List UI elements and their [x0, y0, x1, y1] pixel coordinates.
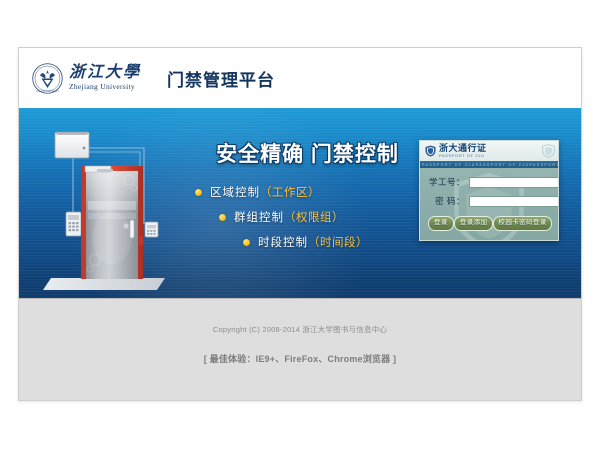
password-row: 密 码： — [428, 195, 550, 207]
student-id-input[interactable] — [469, 177, 559, 188]
feature-sublabel: （工作区） — [260, 184, 320, 200]
site-footer: Copyright (C) 2008-2014 浙江大学图书与信息中心 [ 最佳… — [19, 298, 581, 401]
login-panel: 浙大通行证 PASSPORT OF ZJU PASSPORT OF ZJU PA… — [419, 140, 559, 241]
bullet-icon — [219, 214, 226, 221]
login-button-row: 登录 登录添加 校园卡密码登录 — [428, 216, 550, 231]
ribbon-text: PASSPORT OF ZJU — [476, 163, 530, 167]
hero-headline: 安全精确 门禁控制 — [195, 138, 420, 168]
password-label: 密 码： — [428, 195, 465, 207]
university-logo[interactable]: ZHEJIANG UNIVERSITY 浙江大學 Zhejiang Univer… — [32, 63, 141, 94]
login-form: 学工号： 密 码： 登录 登录添加 校园卡密码登录 — [420, 168, 558, 240]
bullet-icon — [243, 239, 250, 246]
zhejiang-university-seal-icon: ZHEJIANG UNIVERSITY — [32, 63, 63, 94]
shield-icon — [425, 145, 436, 157]
browser-support-note: [ 最佳体验：IE9+、FireFox、Chrome浏览器 ] — [19, 335, 581, 365]
feature-sublabel: （权限组） — [284, 209, 344, 225]
app-page: ZHEJIANG UNIVERSITY 浙江大學 Zhejiang Univer… — [18, 47, 582, 401]
campus-card-login-button[interactable]: 校园卡密码登录 — [493, 216, 551, 231]
feature-item-time-control: 时段控制 （时间段） — [195, 234, 420, 250]
login-panel-header: 浙大通行证 PASSPORT OF ZJU — [420, 141, 558, 161]
feature-item-area-control: 区域控制 （工作区） — [195, 184, 420, 200]
bullet-icon — [195, 189, 202, 196]
login-panel-subtitle: PASSPORT OF ZJU — [439, 154, 487, 158]
feature-list: 区域控制 （工作区） 群组控制 （权限组） 时段控制 （时间段） — [195, 184, 420, 250]
copyright-text: Copyright (C) 2008-2014 浙江大学图书与信息中心 — [19, 299, 581, 335]
feature-label: 群组控制 — [234, 209, 284, 225]
hero-copy: 安全精确 门禁控制 区域控制 （工作区） 群组控制 （权限组） 时段控制 — [195, 138, 420, 259]
feature-sublabel: （时间段） — [308, 234, 368, 250]
ribbon-text: PASSPORT OF ZJU — [530, 163, 559, 167]
page-title: 门禁管理平台 — [167, 66, 275, 91]
student-id-label: 学工号： — [428, 176, 465, 188]
passport-ribbon: PASSPORT OF ZJU PASSPORT OF ZJU PASSPORT… — [420, 161, 558, 168]
login-panel-title-block: 浙大通行证 PASSPORT OF ZJU — [439, 144, 487, 158]
logo-chinese-name: 浙江大學 — [69, 65, 141, 81]
access-control-door-illustration — [41, 126, 191, 298]
logo-english-name: Zhejiang University — [69, 83, 141, 91]
login-add-button[interactable]: 登录添加 — [454, 216, 494, 231]
password-input[interactable] — [469, 196, 559, 207]
student-id-row: 学工号： — [428, 176, 550, 188]
logo-wordmark: 浙江大學 Zhejiang University — [69, 65, 141, 91]
site-header: ZHEJIANG UNIVERSITY 浙江大學 Zhejiang Univer… — [19, 48, 581, 108]
ribbon-text: PASSPORT OF ZJU — [422, 163, 476, 167]
feature-label: 区域控制 — [210, 184, 260, 200]
login-button[interactable]: 登录 — [428, 216, 454, 231]
screenshot-viewport: ZHEJIANG UNIVERSITY 浙江大學 Zhejiang Univer… — [0, 0, 600, 450]
login-panel-title: 浙大通行证 — [439, 144, 487, 153]
shield-watermark-icon — [542, 144, 555, 158]
feature-item-group-control: 群组控制 （权限组） — [195, 209, 420, 225]
hero-banner: 安全精确 门禁控制 区域控制 （工作区） 群组控制 （权限组） 时段控制 — [19, 108, 581, 298]
feature-label: 时段控制 — [258, 234, 308, 250]
